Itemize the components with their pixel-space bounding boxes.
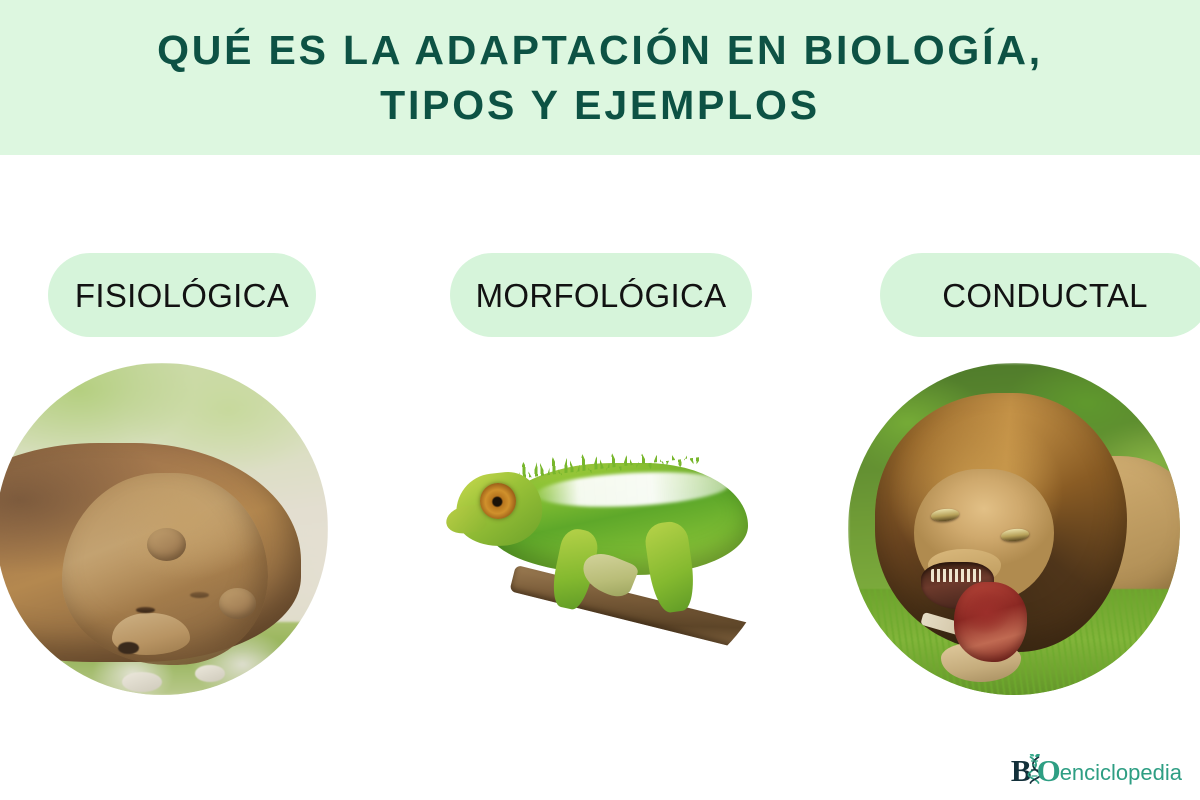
pill-morfologica[interactable]: MORFOLÓGICA — [450, 253, 752, 337]
lion-teeth — [931, 569, 981, 582]
bear-eye-right — [190, 592, 209, 598]
green-chameleon-photo — [443, 363, 775, 695]
pill-fisiologica[interactable]: FISIOLÓGICA — [48, 253, 316, 337]
bioenciclopedia-logo[interactable]: B O enciclopedia — [1011, 752, 1182, 786]
bear-stone — [122, 672, 162, 692]
adaptation-card-conductal: CONDUCTAL — [800, 155, 1200, 800]
header-band: QUÉ ES LA ADAPTACIÓN EN BIOLOGÍA, TIPOS … — [0, 0, 1200, 155]
infographic-canvas: QUÉ ES LA ADAPTACIÓN EN BIOLOGÍA, TIPOS … — [0, 0, 1200, 800]
adaptation-card-morfologica: MORFOLÓGICA — [400, 155, 800, 800]
bear-stone — [23, 665, 56, 685]
bear-ear-right — [219, 588, 256, 619]
pill-label-fisiologica: FISIOLÓGICA — [75, 279, 289, 312]
bear-stone — [195, 665, 225, 682]
pill-conductal[interactable]: CONDUCTAL — [880, 253, 1200, 337]
bear-head — [62, 473, 268, 666]
chameleon-eye — [480, 483, 517, 520]
bear-ear-left — [147, 528, 186, 561]
adaptation-types-row: FISIOLÓGICA — [0, 155, 1200, 800]
lion-eating-photo — [848, 363, 1180, 695]
page-title: QUÉ ES LA ADAPTACIÓN EN BIOLOGÍA, TIPOS … — [117, 23, 1083, 131]
logo-wordmark: enciclopedia — [1060, 762, 1182, 786]
sleeping-brown-bear-photo — [0, 363, 328, 695]
pill-label-conductal: CONDUCTAL — [942, 279, 1148, 312]
pill-label-morfologica: MORFOLÓGICA — [476, 279, 727, 312]
lion-prey — [954, 582, 1027, 662]
bear-nose — [118, 642, 139, 655]
logo-letter-o: O — [1037, 755, 1060, 786]
adaptation-card-fisiologica: FISIOLÓGICA — [0, 155, 400, 800]
